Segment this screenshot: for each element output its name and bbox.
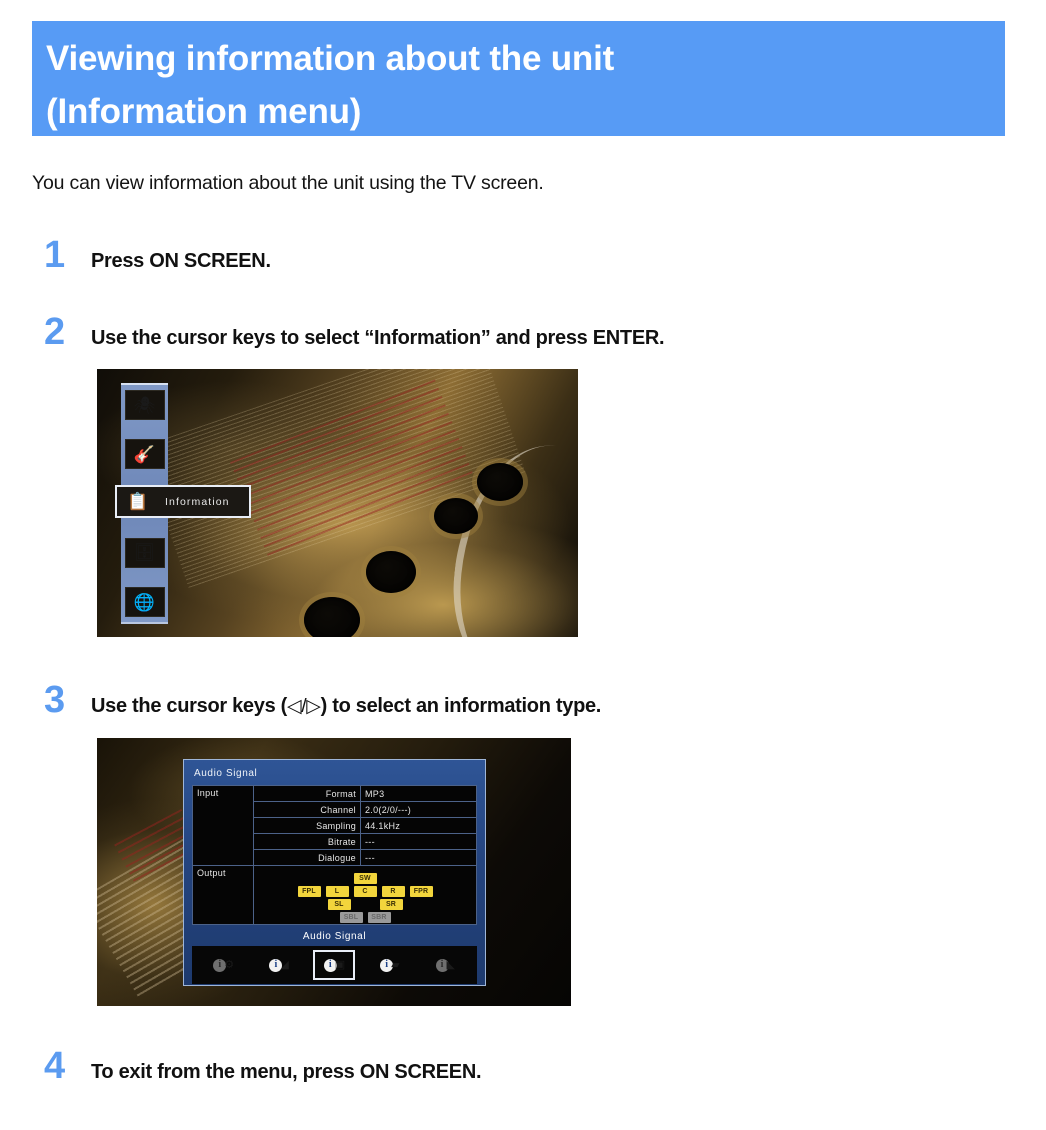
- step-2-number: 2: [44, 313, 91, 351]
- rail-item-sound[interactable]: 🎸: [125, 439, 165, 469]
- osd-tab-bar[interactable]: i ⚙ i ◢ i ▣ i ▰ i ◣: [192, 946, 477, 984]
- speaker-row-1: SW: [354, 873, 377, 884]
- step-3-text-before: Use the cursor keys (: [91, 695, 287, 717]
- intro-paragraph: You can view information about the unit …: [32, 172, 544, 195]
- video-signal-icon: ◢: [280, 960, 288, 971]
- piano-soundhole: [477, 463, 523, 501]
- speaker-badge-sbl: SBL: [340, 912, 363, 923]
- cell-key: Dialogue: [254, 850, 361, 866]
- speaker-badge-r: R: [382, 886, 405, 897]
- step-2: 2 Use the cursor keys to select “Informa…: [44, 313, 664, 351]
- step-4-number: 4: [44, 1047, 91, 1085]
- tab-video-signal[interactable]: i ◢: [258, 950, 300, 980]
- step-1-text: Press ON SCREEN.: [91, 251, 271, 271]
- step-2-text: Use the cursor keys to select “Informati…: [91, 328, 664, 348]
- step-3-number: 3: [44, 681, 91, 719]
- menu-item-information-selected[interactable]: 📋 Information: [115, 485, 251, 518]
- speaker-row-4: SBL SBR: [340, 912, 391, 923]
- speaker-row-3: SL SR: [328, 899, 403, 910]
- page-title-banner: Viewing information about the unit (Info…: [32, 21, 1005, 136]
- speaker-badge-sl: SL: [328, 899, 351, 910]
- speaker-badge-sr: SR: [380, 899, 403, 910]
- step-3: 3 Use the cursor keys (◁/▷) to select an…: [44, 681, 601, 719]
- row-group-input-label: Input: [193, 786, 254, 866]
- cell-key: Channel: [254, 802, 361, 818]
- speaker-row-2: FPL L C R FPR: [298, 886, 433, 897]
- piano-soundhole: [366, 551, 416, 593]
- hdmi-monitor-icon: ▰: [391, 960, 399, 971]
- cell-value: MP3: [361, 786, 477, 802]
- speaker-badge-sbr: SBR: [368, 912, 391, 923]
- cell-key: Bitrate: [254, 834, 361, 850]
- gear-icon: ⚙: [224, 960, 234, 971]
- rail-item-scene[interactable]: 🕷: [125, 390, 165, 420]
- speaker-badge-sw: SW: [354, 873, 377, 884]
- step-4-text: To exit from the menu, press ON SCREEN.: [91, 1062, 481, 1082]
- audio-signal-icon: ▣: [335, 960, 345, 971]
- tab-audio-signal[interactable]: i ▣: [313, 950, 355, 980]
- step-3-text-after: ) to select an information type.: [321, 695, 601, 717]
- tab-hdmi-monitor[interactable]: i ▰: [369, 950, 411, 980]
- tab-system-info[interactable]: i ◣: [424, 950, 466, 980]
- cell-value: 44.1kHz: [361, 818, 477, 834]
- step-3-text: Use the cursor keys (◁/▷) to select an i…: [91, 696, 601, 716]
- cursor-keys-glyphs: ◁/▷: [287, 696, 321, 717]
- speaker-layout-cell: SW FPL L C R FPR SL SR: [254, 866, 477, 925]
- guitar-amp-icon: 🎸: [134, 446, 155, 463]
- step-4: 4 To exit from the menu, press ON SCREEN…: [44, 1047, 481, 1085]
- cell-key: Format: [254, 786, 361, 802]
- osd-footer-title: Audio Signal: [192, 931, 477, 942]
- screenshot-audio-signal-osd: Audio Signal Input Format MP3 Channel 2.…: [97, 738, 571, 1006]
- osd-panel: Audio Signal Input Format MP3 Channel 2.…: [183, 759, 486, 986]
- row-group-output-label: Output: [193, 866, 254, 925]
- screenshot-information-menu: 🕷 🎸 📋 🗄 🌐 📋 Information: [97, 369, 578, 637]
- system-info-icon: ◣: [447, 960, 455, 971]
- step-1-number: 1: [44, 236, 91, 274]
- speaker-badge-c: C: [354, 886, 377, 897]
- tab-signal-info[interactable]: i ⚙: [203, 950, 245, 980]
- scene-people-icon: 🕷: [134, 397, 156, 414]
- clipboard-pencil-icon: 📋: [121, 489, 155, 514]
- osd-header-title: Audio Signal: [194, 768, 477, 779]
- table-row-output: Output SW FPL L C R FPR: [193, 866, 477, 925]
- speaker-badge-fpl: FPL: [298, 886, 321, 897]
- menu-item-information-label: Information: [165, 496, 230, 508]
- piano-soundhole: [304, 597, 360, 637]
- page-title: Viewing information about the unit (Info…: [46, 32, 1005, 138]
- audio-signal-table: Input Format MP3 Channel 2.0(2/0/---) Sa…: [192, 785, 477, 925]
- cell-value: ---: [361, 850, 477, 866]
- speaker-badge-fpr: FPR: [410, 886, 433, 897]
- step-1: 1 Press ON SCREEN.: [44, 236, 271, 274]
- cell-value: 2.0(2/0/---): [361, 802, 477, 818]
- speaker-badge-l: L: [326, 886, 349, 897]
- piano-soundhole: [434, 498, 478, 534]
- rail-item-setup[interactable]: 🗄: [125, 538, 165, 568]
- table-row: Input Format MP3: [193, 786, 477, 802]
- cell-value: ---: [361, 834, 477, 850]
- rail-item-network[interactable]: 🌐: [125, 587, 165, 617]
- speaker-layout: SW FPL L C R FPR SL SR: [258, 867, 472, 923]
- network-globe-icon: 🌐: [134, 594, 155, 611]
- desk-setup-icon: 🗄: [134, 544, 156, 561]
- cell-key: Sampling: [254, 818, 361, 834]
